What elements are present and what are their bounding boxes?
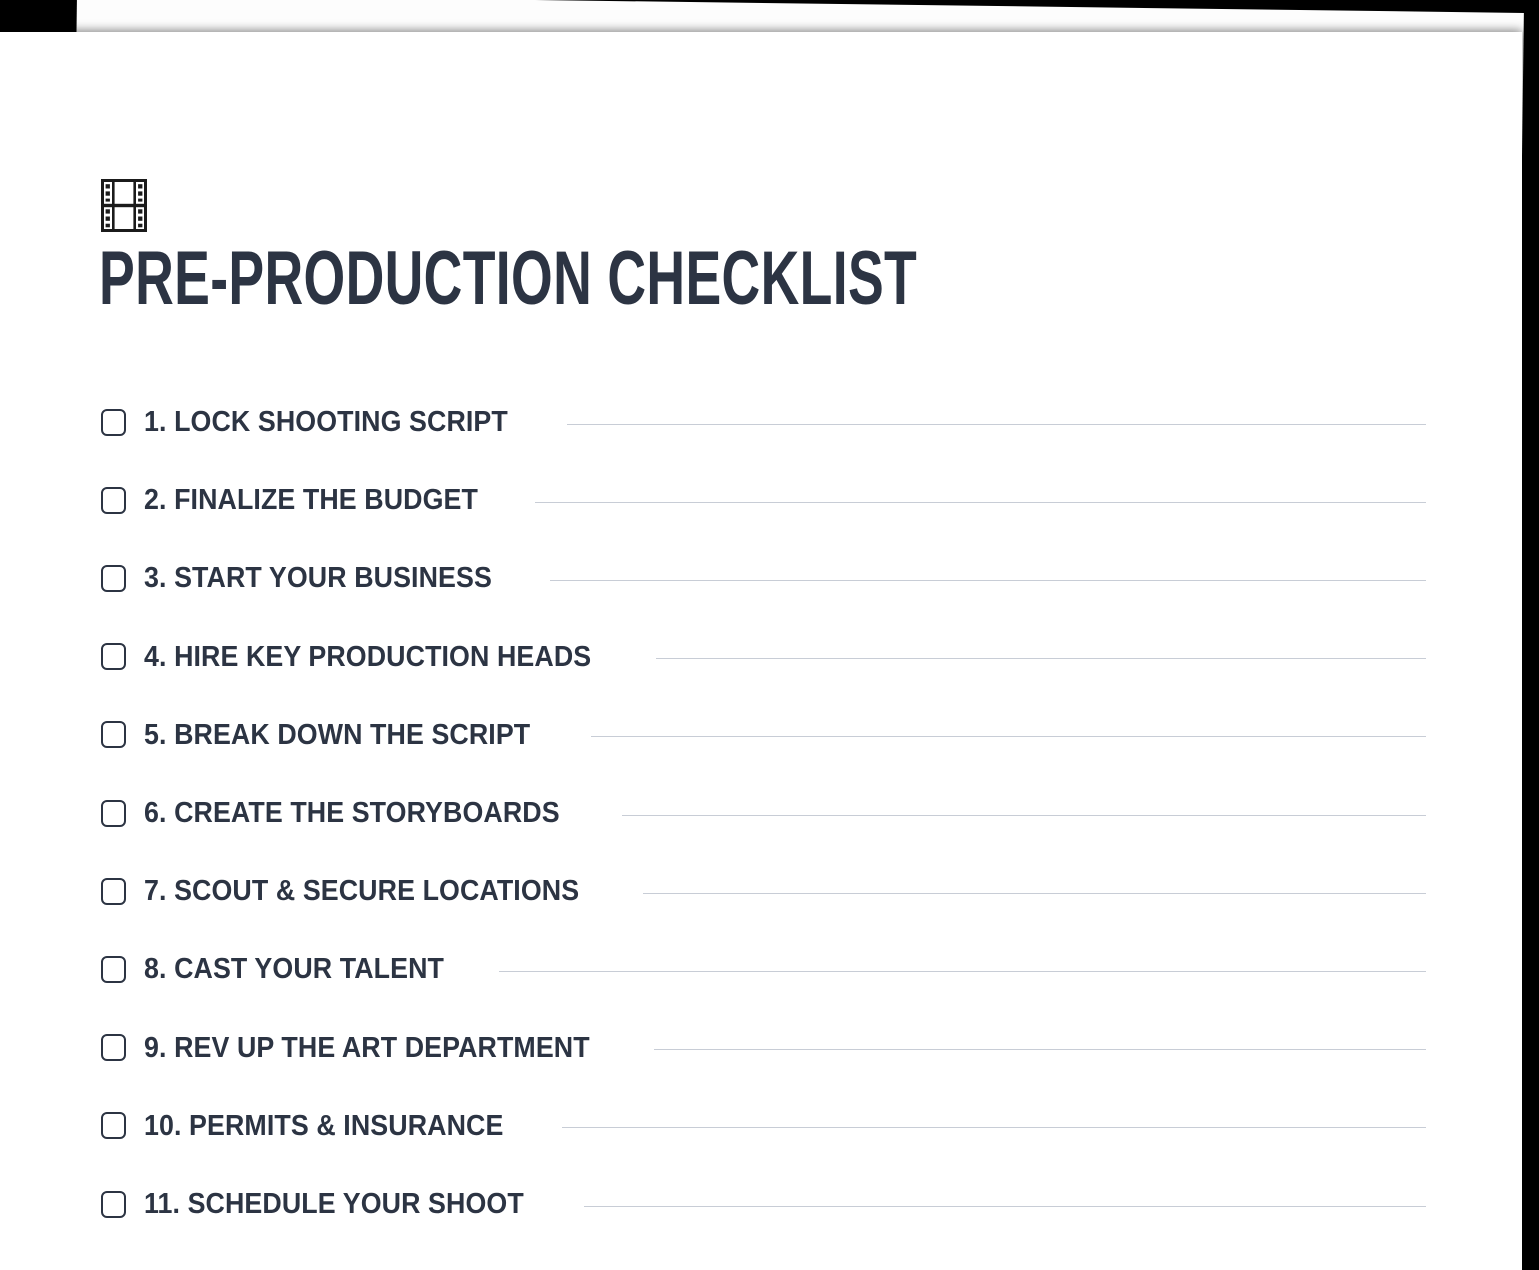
write-in-rule <box>567 424 1426 425</box>
write-in-rule <box>499 971 1426 972</box>
checklist-item[interactable]: 5. BREAK DOWN THE SCRIPT <box>101 715 1426 755</box>
write-in-rule <box>654 1049 1426 1050</box>
checklist-item-label: 5. BREAK DOWN THE SCRIPT <box>144 720 530 750</box>
write-in-rule <box>656 658 1426 659</box>
checklist-item[interactable]: 4. HIRE KEY PRODUCTION HEADS <box>101 637 1426 677</box>
checkbox-unchecked-icon[interactable] <box>101 565 126 592</box>
checklist-item-label: 11. SCHEDULE YOUR SHOOT <box>144 1189 524 1219</box>
checklist-item[interactable]: 2. FINALIZE THE BUDGET <box>101 480 1426 520</box>
write-in-rule <box>535 502 1426 503</box>
write-in-rule <box>562 1127 1426 1128</box>
document-body: PRE-PRODUCTION CHECKLIST 1. LOCK SHOOTIN… <box>0 32 1522 1270</box>
checklist-item[interactable]: 3. START YOUR BUSINESS <box>101 558 1426 598</box>
checkbox-unchecked-icon[interactable] <box>101 643 126 670</box>
checklist-item[interactable]: 11. SCHEDULE YOUR SHOOT <box>101 1184 1426 1224</box>
write-in-rule <box>584 1206 1426 1207</box>
paper-sheet-front: PRE-PRODUCTION CHECKLIST 1. LOCK SHOOTIN… <box>0 32 1522 1270</box>
write-in-rule <box>643 893 1426 894</box>
checkbox-unchecked-icon[interactable] <box>101 409 126 436</box>
checkbox-unchecked-icon[interactable] <box>101 1191 126 1218</box>
checkbox-unchecked-icon[interactable] <box>101 800 126 827</box>
checklist-item[interactable]: 6. CREATE THE STORYBOARDS <box>101 793 1426 833</box>
checklist-item[interactable]: 1. LOCK SHOOTING SCRIPT <box>101 402 1426 442</box>
write-in-rule <box>622 815 1426 816</box>
film-strip-icon <box>101 179 147 232</box>
checklist-item-label: 9. REV UP THE ART DEPARTMENT <box>144 1033 590 1063</box>
checkbox-unchecked-icon[interactable] <box>101 1112 126 1139</box>
screenshot-canvas: PRE-PRODUCTION CHECKLIST 1. LOCK SHOOTIN… <box>0 0 1539 1270</box>
checkbox-unchecked-icon[interactable] <box>101 878 126 905</box>
checklist-item[interactable]: 10. PERMITS & INSURANCE <box>101 1106 1426 1146</box>
write-in-rule <box>550 580 1426 581</box>
checklist-item-label: 8. CAST YOUR TALENT <box>144 954 444 984</box>
checklist-item-label: 10. PERMITS & INSURANCE <box>144 1111 503 1141</box>
checklist-item-label: 7. SCOUT & SECURE LOCATIONS <box>144 876 579 906</box>
checklist-item-label: 1. LOCK SHOOTING SCRIPT <box>144 407 508 437</box>
checklist-item[interactable]: 9. REV UP THE ART DEPARTMENT <box>101 1028 1426 1068</box>
checkbox-unchecked-icon[interactable] <box>101 1034 126 1061</box>
checkbox-unchecked-icon[interactable] <box>101 721 126 748</box>
checklist-item-label: 2. FINALIZE THE BUDGET <box>144 485 478 515</box>
checklist-item[interactable]: 7. SCOUT & SECURE LOCATIONS <box>101 871 1426 911</box>
write-in-rule <box>591 736 1426 737</box>
checklist-item-label: 4. HIRE KEY PRODUCTION HEADS <box>144 642 591 672</box>
checkbox-unchecked-icon[interactable] <box>101 487 126 514</box>
page-title: PRE-PRODUCTION CHECKLIST <box>99 237 917 321</box>
checklist-item-label: 3. START YOUR BUSINESS <box>144 563 492 593</box>
checklist-item[interactable]: 8. CAST YOUR TALENT <box>101 949 1426 989</box>
checkbox-unchecked-icon[interactable] <box>101 956 126 983</box>
checklist-item-label: 6. CREATE THE STORYBOARDS <box>144 798 560 828</box>
